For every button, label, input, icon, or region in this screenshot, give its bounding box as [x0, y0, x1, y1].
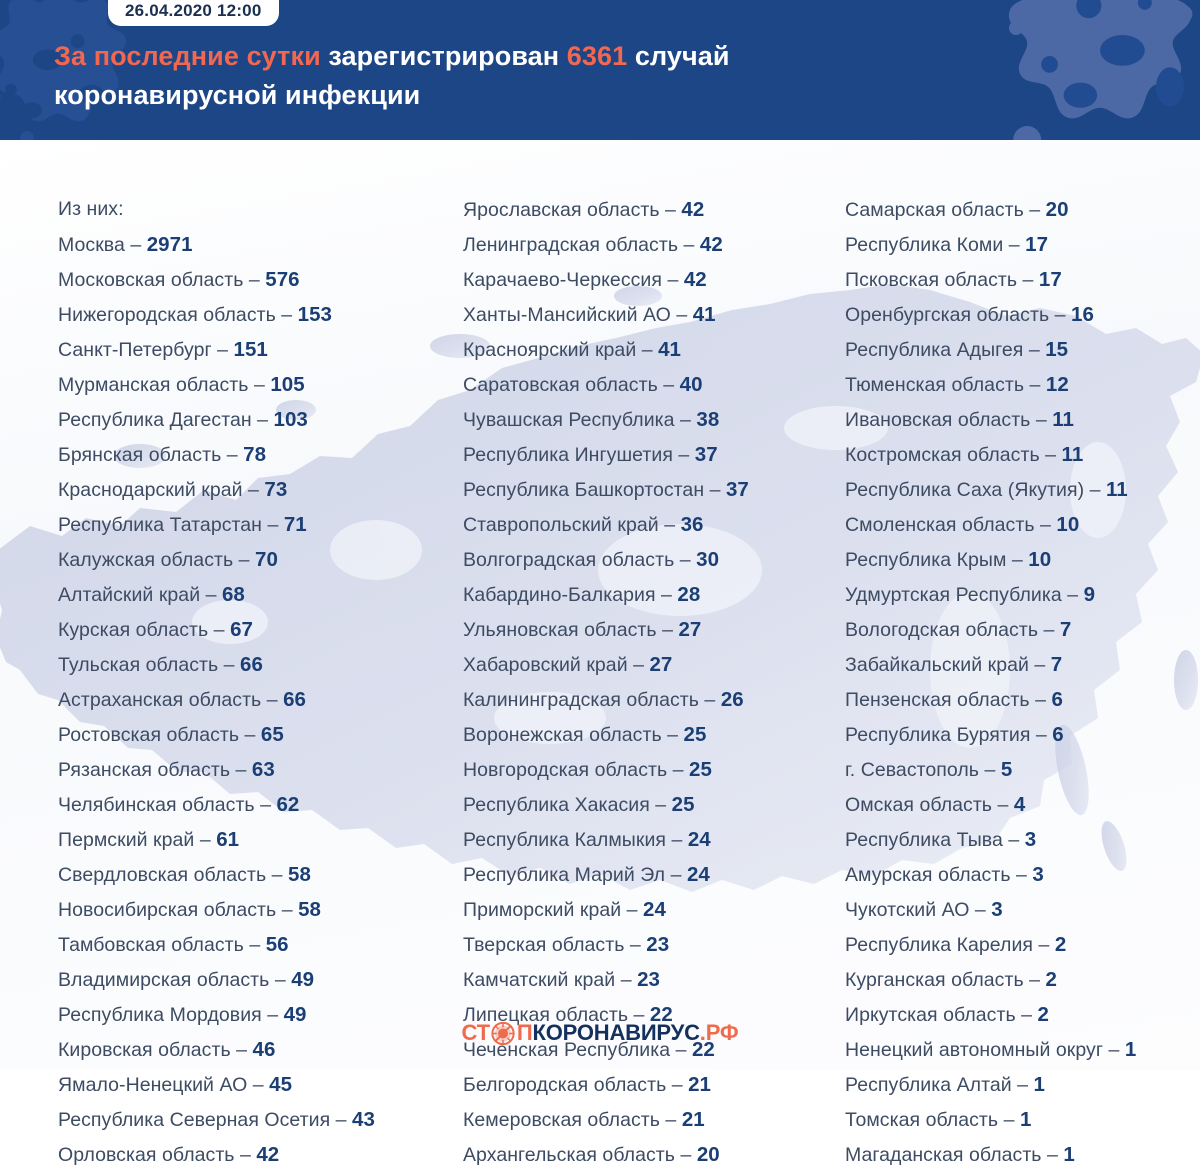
region-name: Тверская область – [463, 934, 646, 956]
region-row: Республика Хакасия – 25 [463, 787, 843, 822]
region-case-count: 5 [1001, 758, 1012, 781]
logo-part-3: КОРОНАВИРУС [533, 1020, 700, 1046]
region-row: Смоленская область – 10 [845, 507, 1200, 542]
region-name: Республика Бурятия – [845, 724, 1052, 746]
headline-case-count: 6361 [567, 41, 627, 71]
region-name: Новосибирская область – [58, 899, 298, 921]
region-case-count: 1 [1063, 1143, 1074, 1166]
region-name: Челябинская область – [58, 794, 276, 816]
headline-mid: зарегистрирован [321, 41, 567, 71]
region-name: Забайкальский край – [845, 654, 1051, 676]
region-name: Кемеровская область – [463, 1109, 682, 1131]
region-row: Чувашская Республика – 38 [463, 402, 843, 437]
region-row: Омская область – 4 [845, 787, 1200, 822]
region-name: Московская область – [58, 269, 265, 291]
region-case-count: 25 [689, 758, 712, 781]
region-row: Карачаево-Черкессия – 42 [463, 262, 843, 297]
region-row: Забайкальский край – 7 [845, 647, 1200, 682]
region-name: Астраханская область – [58, 689, 283, 711]
region-case-count: 7 [1051, 653, 1062, 676]
region-case-count: 41 [658, 338, 681, 361]
region-row: Республика Коми – 17 [845, 227, 1200, 262]
region-row: Хабаровский край – 27 [463, 647, 843, 682]
region-name: Мурманская область – [58, 374, 270, 396]
headline-accent: За последние сутки [54, 41, 321, 71]
region-name: Оренбургская область – [845, 304, 1071, 326]
region-case-count: 27 [649, 653, 672, 676]
region-name: Курская область – [58, 619, 230, 641]
region-row: Республика Дагестан – 103 [58, 402, 458, 437]
region-case-count: 576 [265, 268, 299, 291]
region-row: Нижегородская область – 153 [58, 297, 458, 332]
region-row: Республика Башкортостан – 37 [463, 472, 843, 507]
region-case-count: 15 [1045, 338, 1068, 361]
region-name: Смоленская область – [845, 514, 1056, 536]
region-name: Ставропольский край – [463, 514, 681, 536]
region-name: Владимирская область – [58, 969, 291, 991]
region-name: Курганская область – [845, 969, 1046, 991]
region-row: Кабардино-Балкария – 28 [463, 577, 843, 612]
region-case-count: 153 [298, 303, 332, 326]
region-name: Республика Крым – [845, 549, 1028, 571]
region-case-count: 43 [352, 1108, 375, 1131]
region-name: Тюменская область – [845, 374, 1046, 396]
region-row: Удмуртская Республика – 9 [845, 577, 1200, 612]
region-row: Камчатский край – 23 [463, 962, 843, 997]
region-name: г. Севастополь – [845, 759, 1001, 781]
region-case-count: 24 [687, 863, 710, 886]
region-name: Приморский край – [463, 899, 643, 921]
region-case-count: 25 [684, 723, 707, 746]
region-name: Республика Ингушетия – [463, 444, 695, 466]
region-case-count: 66 [240, 653, 263, 676]
region-case-count: 71 [284, 513, 307, 536]
region-name: Республика Алтай – [845, 1074, 1034, 1096]
region-name: Краснодарский край – [58, 479, 264, 501]
region-row: Ярославская область – 42 [463, 192, 843, 227]
region-name: Рязанская область – [58, 759, 252, 781]
region-case-count: 30 [696, 548, 719, 571]
regions-list: Из них:Москва – 2971Московская область –… [0, 140, 1200, 1020]
region-row: Московская область – 576 [58, 262, 458, 297]
region-name: Тульская область – [58, 654, 240, 676]
region-row: Приморский край – 24 [463, 892, 843, 927]
logo-part-2: П [517, 1020, 533, 1046]
region-row: Республика Тыва – 3 [845, 822, 1200, 857]
region-row: Амурская область – 3 [845, 857, 1200, 892]
region-row: Республика Марий Эл – 24 [463, 857, 843, 892]
region-row: Краснодарский край – 73 [58, 472, 458, 507]
region-name: Ростовская область – [58, 724, 261, 746]
region-name: Новгородская область – [463, 759, 689, 781]
region-case-count: 61 [216, 828, 239, 851]
region-name: Из них: [58, 198, 124, 220]
page-title: За последние сутки зарегистрирован 6361 … [54, 37, 1054, 115]
region-row: Магаданская область – 1 [845, 1137, 1200, 1172]
region-case-count: 3 [991, 898, 1002, 921]
region-name: Удмуртская Республика – [845, 584, 1084, 606]
region-name: Москва – [58, 234, 147, 256]
region-row: Республика Крым – 10 [845, 542, 1200, 577]
region-row: Курская область – 67 [58, 612, 458, 647]
region-row: Республика Адыгея – 15 [845, 332, 1200, 367]
region-case-count: 151 [234, 338, 268, 361]
region-name: Омская область – [845, 794, 1014, 816]
region-row: Тульская область – 66 [58, 647, 458, 682]
region-row: Чукотский АО – 3 [845, 892, 1200, 927]
region-row: Ямало-Ненецкий АО – 45 [58, 1067, 458, 1102]
region-case-count: 10 [1056, 513, 1079, 536]
region-name: Томская область – [845, 1109, 1020, 1131]
region-name: Республика Карелия – [845, 934, 1055, 956]
region-case-count: 23 [637, 968, 660, 991]
region-case-count: 20 [1046, 198, 1069, 221]
region-name: Республика Северная Осетия – [58, 1109, 352, 1131]
region-case-count: 65 [261, 723, 284, 746]
region-case-count: 11 [1106, 478, 1128, 501]
region-case-count: 41 [693, 303, 716, 326]
logo-part-4: .РФ [700, 1020, 739, 1046]
region-row: Томская область – 1 [845, 1102, 1200, 1137]
region-row: Калининградская область – 26 [463, 682, 843, 717]
region-case-count: 16 [1071, 303, 1094, 326]
region-name: Республика Башкортостан – [463, 479, 726, 501]
region-case-count: 20 [697, 1143, 720, 1166]
region-case-count: 68 [222, 583, 245, 606]
region-name: Воронежская область – [463, 724, 684, 746]
region-row: Псковская область – 17 [845, 262, 1200, 297]
region-case-count: 10 [1028, 548, 1051, 571]
region-row: Санкт-Петербург – 151 [58, 332, 458, 367]
region-name: Самарская область – [845, 199, 1046, 221]
region-row: Рязанская область – 63 [58, 752, 458, 787]
region-row: Красноярский край – 41 [463, 332, 843, 367]
region-case-count: 103 [274, 408, 308, 431]
region-case-count: 4 [1014, 793, 1025, 816]
region-name: Брянская область – [58, 444, 243, 466]
region-case-count: 42 [684, 268, 707, 291]
region-name: Амурская область – [845, 864, 1032, 886]
region-row: Самарская область – 20 [845, 192, 1200, 227]
region-case-count: 62 [276, 793, 299, 816]
region-row: Ростовская область – 65 [58, 717, 458, 752]
region-case-count: 11 [1062, 443, 1084, 466]
region-case-count: 17 [1025, 233, 1048, 256]
region-case-count: 6 [1051, 688, 1062, 711]
region-row: Алтайский край – 68 [58, 577, 458, 612]
region-name: Белгородская область – [463, 1074, 688, 1096]
region-case-count: 58 [298, 898, 321, 921]
region-name: Калужская область – [58, 549, 255, 571]
region-row: Республика Ингушетия – 37 [463, 437, 843, 472]
region-name: Санкт-Петербург – [58, 339, 234, 361]
region-name: Ивановская область – [845, 409, 1052, 431]
region-row: Республика Алтай – 1 [845, 1067, 1200, 1102]
region-case-count: 28 [677, 583, 700, 606]
region-name: Республика Марий Эл – [463, 864, 687, 886]
region-row: Тамбовская область – 56 [58, 927, 458, 962]
region-name: Кабардино-Балкария – [463, 584, 677, 606]
region-row: Челябинская область – 62 [58, 787, 458, 822]
region-name: Республика Хакасия – [463, 794, 672, 816]
region-case-count: 24 [643, 898, 666, 921]
region-case-count: 105 [270, 373, 304, 396]
footer: СТПКОРОНАВИРУС.РФ [0, 1012, 1200, 1070]
region-name: Псковская область – [845, 269, 1039, 291]
region-row: Республика Калмыкия – 24 [463, 822, 843, 857]
region-case-count: 1 [1020, 1108, 1031, 1131]
region-case-count: 7 [1060, 618, 1071, 641]
region-name: Магаданская область – [845, 1144, 1063, 1166]
headline-tail: случай [627, 41, 729, 71]
region-name: Саратовская область – [463, 374, 680, 396]
region-case-count: 40 [680, 373, 703, 396]
region-name: Ханты-Мансийский АО – [463, 304, 693, 326]
region-row: Тверская область – 23 [463, 927, 843, 962]
region-row: Владимирская область – 49 [58, 962, 458, 997]
region-name: Ярославская область – [463, 199, 681, 221]
region-row: Республика Карелия – 2 [845, 927, 1200, 962]
region-row: Архангельская область – 20 [463, 1137, 843, 1172]
region-case-count: 42 [700, 233, 723, 256]
region-case-count: 2 [1055, 933, 1066, 956]
region-case-count: 6 [1052, 723, 1063, 746]
region-case-count: 11 [1052, 408, 1074, 431]
region-row: Мурманская область – 105 [58, 367, 458, 402]
region-name: Камчатский край – [463, 969, 637, 991]
region-name: Волгоградская область – [463, 549, 696, 571]
region-case-count: 42 [681, 198, 704, 221]
region-row: Ульяновская область – 27 [463, 612, 843, 647]
region-case-count: 45 [269, 1073, 292, 1096]
region-row: Воронежская область – 25 [463, 717, 843, 752]
region-case-count: 3 [1032, 863, 1043, 886]
region-case-count: 73 [264, 478, 287, 501]
region-case-count: 3 [1025, 828, 1036, 851]
region-name: Вологодская область – [845, 619, 1060, 641]
region-case-count: 2971 [147, 233, 193, 256]
region-row: Республика Саха (Якутия) – 11 [845, 472, 1200, 507]
region-case-count: 25 [672, 793, 695, 816]
region-row: Брянская область – 78 [58, 437, 458, 472]
region-row: Новосибирская область – 58 [58, 892, 458, 927]
region-case-count: 2 [1046, 968, 1057, 991]
region-case-count: 37 [726, 478, 749, 501]
headline-line2: коронавирусной инфекции [54, 80, 420, 110]
region-case-count: 38 [696, 408, 719, 431]
region-name: Алтайский край – [58, 584, 222, 606]
region-case-count: 49 [291, 968, 314, 991]
region-row: Волгоградская область – 30 [463, 542, 843, 577]
region-row: Белгородская область – 21 [463, 1067, 843, 1102]
region-case-count: 58 [288, 863, 311, 886]
region-name: Костромская область – [845, 444, 1062, 466]
region-case-count: 67 [230, 618, 253, 641]
region-case-count: 70 [255, 548, 278, 571]
region-row: г. Севастополь – 5 [845, 752, 1200, 787]
region-name: Республика Дагестан – [58, 409, 274, 431]
region-name: Карачаево-Черкессия – [463, 269, 684, 291]
region-name: Хабаровский край – [463, 654, 649, 676]
date-badge: 26.04.2020 12:00 [108, 0, 279, 26]
region-case-count: 66 [283, 688, 306, 711]
region-case-count: 42 [256, 1143, 279, 1166]
region-case-count: 23 [646, 933, 669, 956]
region-name: Республика Татарстан – [58, 514, 284, 536]
region-row: Вологодская область – 7 [845, 612, 1200, 647]
region-case-count: 27 [678, 618, 701, 641]
region-row: Свердловская область – 58 [58, 857, 458, 892]
region-case-count: 56 [266, 933, 289, 956]
region-row: Тюменская область – 12 [845, 367, 1200, 402]
stopcoronavirus-logo[interactable]: СТПКОРОНАВИРУС.РФ [462, 1020, 739, 1046]
region-row: Оренбургская область – 16 [845, 297, 1200, 332]
region-case-count: 21 [682, 1108, 705, 1131]
region-case-count: 26 [721, 688, 744, 711]
region-row: Ставропольский край – 36 [463, 507, 843, 542]
region-name: Свердловская область – [58, 864, 288, 886]
region-row: Саратовская область – 40 [463, 367, 843, 402]
region-row: Ханты-Мансийский АО – 41 [463, 297, 843, 332]
region-row: Новгородская область – 25 [463, 752, 843, 787]
region-name: Архангельская область – [463, 1144, 697, 1166]
region-case-count: 24 [688, 828, 711, 851]
region-name: Ленинградская область – [463, 234, 700, 256]
region-row: Республика Татарстан – 71 [58, 507, 458, 542]
region-row: Пермский край – 61 [58, 822, 458, 857]
region-name: Республика Коми – [845, 234, 1025, 256]
region-name: Чувашская Республика – [463, 409, 696, 431]
region-case-count: 37 [695, 443, 718, 466]
region-row: Калужская область – 70 [58, 542, 458, 577]
region-name: Орловская область – [58, 1144, 256, 1166]
region-row: Кемеровская область – 21 [463, 1102, 843, 1137]
region-name: Тамбовская область – [58, 934, 266, 956]
region-case-count: 9 [1084, 583, 1095, 606]
region-row: Астраханская область – 66 [58, 682, 458, 717]
region-case-count: 1 [1034, 1073, 1045, 1096]
region-row: Ленинградская область – 42 [463, 227, 843, 262]
region-name: Республика Тыва – [845, 829, 1025, 851]
region-row: Республика Бурятия – 6 [845, 717, 1200, 752]
region-name: Республика Саха (Якутия) – [845, 479, 1106, 501]
virus-stop-icon [491, 1021, 516, 1046]
region-row: Курганская область – 2 [845, 962, 1200, 997]
region-name: Нижегородская область – [58, 304, 298, 326]
region-case-count: 63 [252, 758, 275, 781]
region-row: Ивановская область – 11 [845, 402, 1200, 437]
region-case-count: 17 [1039, 268, 1062, 291]
region-name: Пермский край – [58, 829, 216, 851]
region-name: Чукотский АО – [845, 899, 991, 921]
region-row: Костромская область – 11 [845, 437, 1200, 472]
list-intro-label: Из них: [58, 192, 458, 227]
region-row: Республика Северная Осетия – 43 [58, 1102, 458, 1137]
region-row: Москва – 2971 [58, 227, 458, 262]
region-name: Республика Калмыкия – [463, 829, 688, 851]
region-name: Красноярский край – [463, 339, 658, 361]
region-row: Пензенская область – 6 [845, 682, 1200, 717]
logo-part-1: СТ [462, 1020, 490, 1046]
region-name: Республика Адыгея – [845, 339, 1045, 361]
region-name: Калининградская область – [463, 689, 721, 711]
region-row: Орловская область – 42 [58, 1137, 458, 1172]
region-case-count: 12 [1046, 373, 1069, 396]
header-banner: 26.04.2020 12:00 За последние сутки заре… [0, 0, 1200, 140]
region-name: Ульяновская область – [463, 619, 678, 641]
region-case-count: 36 [681, 513, 704, 536]
region-name: Пензенская область – [845, 689, 1051, 711]
region-case-count: 78 [243, 443, 266, 466]
region-name: Ямало-Ненецкий АО – [58, 1074, 269, 1096]
region-case-count: 21 [688, 1073, 711, 1096]
